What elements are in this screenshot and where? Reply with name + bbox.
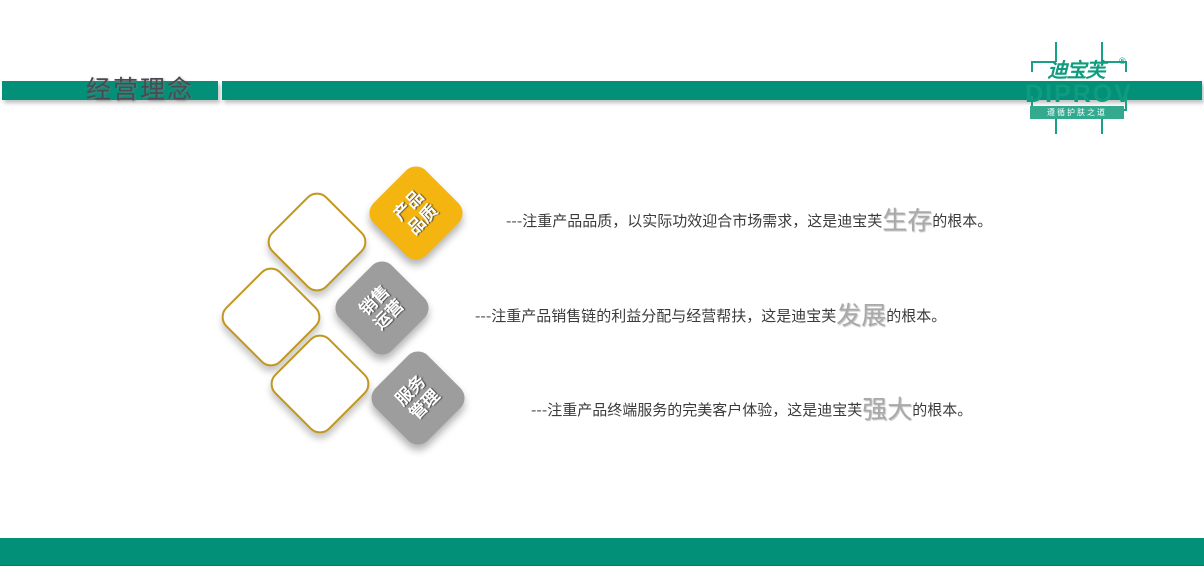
- statement-highlight: 强大: [862, 395, 912, 424]
- statement-dash: ---: [531, 401, 547, 419]
- registered-mark-icon: ®: [1119, 56, 1126, 66]
- statement-text-before: 注重产品销售链的利益分配与经营帮扶，这是迪宝芙: [491, 307, 836, 325]
- slide-canvas: 经营理念 迪宝芙 ® DIPROV 遵循护肤之道 产品 品质 销售: [0, 0, 1204, 567]
- concept-diamond-sales[interactable]: [330, 256, 435, 361]
- concept-diamond-service[interactable]: [366, 346, 471, 451]
- logo-tagline: 遵循护肤之道: [1030, 106, 1124, 119]
- statement-row-quality: ---注重产品品质，以实际功效迎合市场需求，这是迪宝芙生存的根本。: [506, 208, 992, 233]
- statement-text-after: 的根本。: [912, 401, 972, 419]
- logo-english-name: DIPROV: [1020, 80, 1138, 109]
- statement-dash: ---: [475, 307, 491, 325]
- statement-row-sales: ---注重产品销售链的利益分配与经营帮扶，这是迪宝芙发展的根本。: [475, 303, 946, 328]
- statement-highlight: 生存: [882, 206, 932, 235]
- statement-highlight: 发展: [836, 301, 886, 330]
- statement-text-after: 的根本。: [886, 307, 946, 325]
- footer-bar: [0, 538, 1204, 566]
- statement-text-after: 的根本。: [932, 212, 992, 230]
- logo-chinese-name: 迪宝芙: [1030, 54, 1122, 83]
- page-title: 经营理念: [86, 70, 226, 106]
- statement-dash: ---: [506, 212, 522, 230]
- statement-text-before: 注重产品品质，以实际功效迎合市场需求，这是迪宝芙: [522, 212, 882, 230]
- statement-row-service: ---注重产品终端服务的完美客户体验，这是迪宝芙强大的根本。: [531, 397, 972, 422]
- statement-text-before: 注重产品终端服务的完美客户体验，这是迪宝芙: [547, 401, 862, 419]
- brand-logo: 迪宝芙 ® DIPROV 遵循护肤之道: [1018, 38, 1140, 142]
- concept-diamond-quality[interactable]: [364, 161, 469, 266]
